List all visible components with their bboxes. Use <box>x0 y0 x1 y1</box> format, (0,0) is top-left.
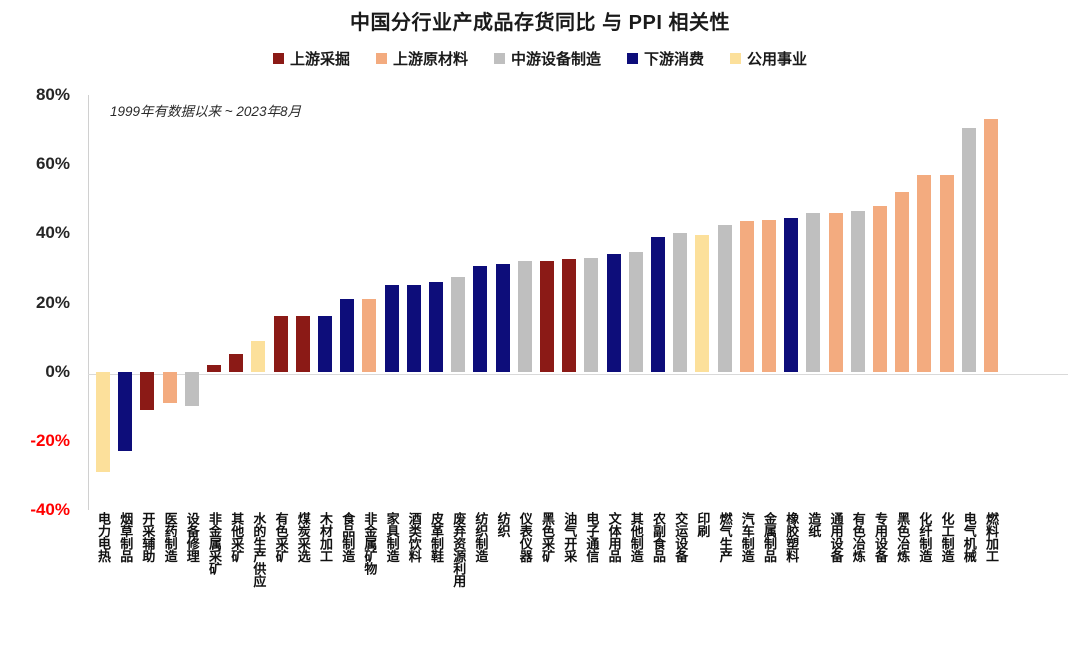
bar[interactable] <box>274 316 288 371</box>
bar[interactable] <box>118 372 132 452</box>
legend-swatch-icon <box>730 53 741 64</box>
x-axis-tick-label: 造纸 <box>803 512 823 537</box>
legend-item-label: 下游消费 <box>644 48 704 69</box>
x-axis-tick-label: 通用设备 <box>826 512 846 562</box>
bar[interactable] <box>185 372 199 407</box>
bar[interactable] <box>740 221 754 371</box>
legend-item[interactable]: 下游消费 <box>627 48 704 69</box>
chart-legend: 上游采掘上游原材料中游设备制造下游消费公用事业 <box>0 48 1080 69</box>
chart-annotation: 1999年有数据以来 ~ 2023年8月 <box>110 100 301 120</box>
bar[interactable] <box>806 213 820 372</box>
bar-series <box>88 95 1068 510</box>
legend-swatch-icon <box>627 53 638 64</box>
bar[interactable] <box>407 285 421 371</box>
x-axis-tick-label: 印刷 <box>692 512 712 537</box>
bar[interactable] <box>251 341 265 372</box>
bar[interactable] <box>385 285 399 371</box>
x-axis-tick-label: 煤炭采选 <box>293 512 313 562</box>
x-axis-tick-label: 黑色冶炼 <box>892 512 912 562</box>
x-axis-tick-label: 汽车制造 <box>737 512 757 562</box>
bar[interactable] <box>584 258 598 372</box>
bar[interactable] <box>163 372 177 403</box>
x-axis-tick-label: 纺织 <box>493 512 513 537</box>
chart-page: 中国分行业产成品存货同比 与 PPI 相关性 上游采掘上游原材料中游设备制造下游… <box>0 0 1080 659</box>
legend-swatch-icon <box>376 53 387 64</box>
bar[interactable] <box>917 175 931 372</box>
legend-item-label: 中游设备制造 <box>511 48 601 69</box>
x-axis-labels: 电力电热烟草制品开采辅助医药制造设备修理非金属采矿其他采矿水的生产供应有色采矿煤… <box>88 512 1068 659</box>
x-axis-tick-label: 食品制造 <box>337 512 357 562</box>
bar[interactable] <box>607 254 621 372</box>
x-axis-tick-label: 有色冶炼 <box>848 512 868 562</box>
bar[interactable] <box>829 213 843 372</box>
x-axis-tick-label: 废弃资源利用 <box>448 512 468 587</box>
bar[interactable] <box>229 354 243 371</box>
x-axis-tick-label: 专用设备 <box>870 512 890 562</box>
bar[interactable] <box>695 235 709 372</box>
x-axis-tick-label: 水的生产供应 <box>248 512 268 587</box>
x-axis-tick-label: 皮革制鞋 <box>426 512 446 562</box>
x-axis-tick-label: 金属制品 <box>759 512 779 562</box>
x-axis-tick-label: 其他采矿 <box>226 512 246 562</box>
x-axis-tick-label: 烟草制品 <box>115 512 135 562</box>
legend-item[interactable]: 公用事业 <box>730 48 807 69</box>
y-axis-labels: 80%60%40%20%0%-20%-40% <box>0 95 80 510</box>
x-axis-tick-label: 燃气生产 <box>715 512 735 562</box>
bar[interactable] <box>762 220 776 372</box>
x-axis-tick-label: 其他制造 <box>626 512 646 562</box>
x-axis-tick-label: 医药制造 <box>160 512 180 562</box>
x-axis-tick-label: 橡胶塑料 <box>781 512 801 562</box>
bar[interactable] <box>940 175 954 372</box>
bar[interactable] <box>851 211 865 372</box>
x-axis-tick-label: 黑色采矿 <box>537 512 557 562</box>
bar[interactable] <box>362 299 376 372</box>
y-axis-tick-label: 80% <box>36 85 70 105</box>
bar[interactable] <box>562 259 576 371</box>
x-axis-tick-label: 非金属采矿 <box>204 512 224 575</box>
bar[interactable] <box>140 372 154 410</box>
x-axis-tick-label: 电气机械 <box>959 512 979 562</box>
bar[interactable] <box>473 266 487 371</box>
bar[interactable] <box>429 282 443 372</box>
legend-item[interactable]: 中游设备制造 <box>494 48 601 69</box>
y-axis-tick-label: -40% <box>30 500 70 520</box>
bar[interactable] <box>873 206 887 372</box>
y-axis-tick-label: 40% <box>36 223 70 243</box>
x-axis-tick-label: 化纤制造 <box>914 512 934 562</box>
plot-area <box>88 95 1068 510</box>
y-axis-tick-label: -20% <box>30 431 70 451</box>
legend-item-label: 上游采掘 <box>290 48 350 69</box>
y-axis-tick-label: 60% <box>36 154 70 174</box>
bar[interactable] <box>984 119 998 371</box>
page-title: 中国分行业产成品存货同比 与 PPI 相关性 <box>0 6 1080 35</box>
x-axis-tick-label: 有色采矿 <box>271 512 291 562</box>
bar[interactable] <box>518 261 532 372</box>
bar[interactable] <box>207 365 221 372</box>
x-axis-tick-label: 家具制造 <box>382 512 402 562</box>
x-axis-tick-label: 文体用品 <box>604 512 624 562</box>
bar[interactable] <box>962 128 976 372</box>
bar[interactable] <box>629 252 643 371</box>
x-axis-tick-label: 化工制造 <box>937 512 957 562</box>
bar[interactable] <box>451 277 465 372</box>
x-axis-tick-label: 设备修理 <box>182 512 202 562</box>
bar[interactable] <box>673 233 687 371</box>
bar[interactable] <box>895 192 909 372</box>
bar[interactable] <box>784 218 798 372</box>
bar[interactable] <box>496 264 510 371</box>
legend-item-label: 公用事业 <box>747 48 807 69</box>
y-axis-tick-label: 0% <box>45 362 70 382</box>
bar[interactable] <box>651 237 665 372</box>
x-axis-tick-label: 交运设备 <box>670 512 690 562</box>
bar[interactable] <box>296 316 310 371</box>
legend-swatch-icon <box>494 53 505 64</box>
bar[interactable] <box>340 299 354 372</box>
x-axis-tick-label: 纺织制造 <box>470 512 490 562</box>
legend-item[interactable]: 上游原材料 <box>376 48 468 69</box>
bar[interactable] <box>718 225 732 372</box>
x-axis-tick-label: 木材加工 <box>315 512 335 562</box>
bar[interactable] <box>318 316 332 371</box>
bar[interactable] <box>540 261 554 372</box>
legend-item[interactable]: 上游采掘 <box>273 48 350 69</box>
x-axis-tick-label: 酒类饮料 <box>404 512 424 562</box>
legend-item-label: 上游原材料 <box>393 48 468 69</box>
x-axis-tick-label: 开采辅助 <box>137 512 157 562</box>
x-axis-tick-label: 仪表仪器 <box>515 512 535 562</box>
x-axis-tick-label: 燃料加工 <box>981 512 1001 562</box>
x-axis-tick-label: 电力电热 <box>93 512 113 562</box>
bar[interactable] <box>96 372 110 472</box>
x-axis-tick-label: 农副食品 <box>648 512 668 562</box>
x-axis-tick-label: 非金属矿物 <box>359 512 379 575</box>
x-axis-tick-label: 电子通信 <box>581 512 601 562</box>
x-axis-tick-label: 油气开采 <box>559 512 579 562</box>
legend-swatch-icon <box>273 53 284 64</box>
y-axis-tick-label: 20% <box>36 293 70 313</box>
